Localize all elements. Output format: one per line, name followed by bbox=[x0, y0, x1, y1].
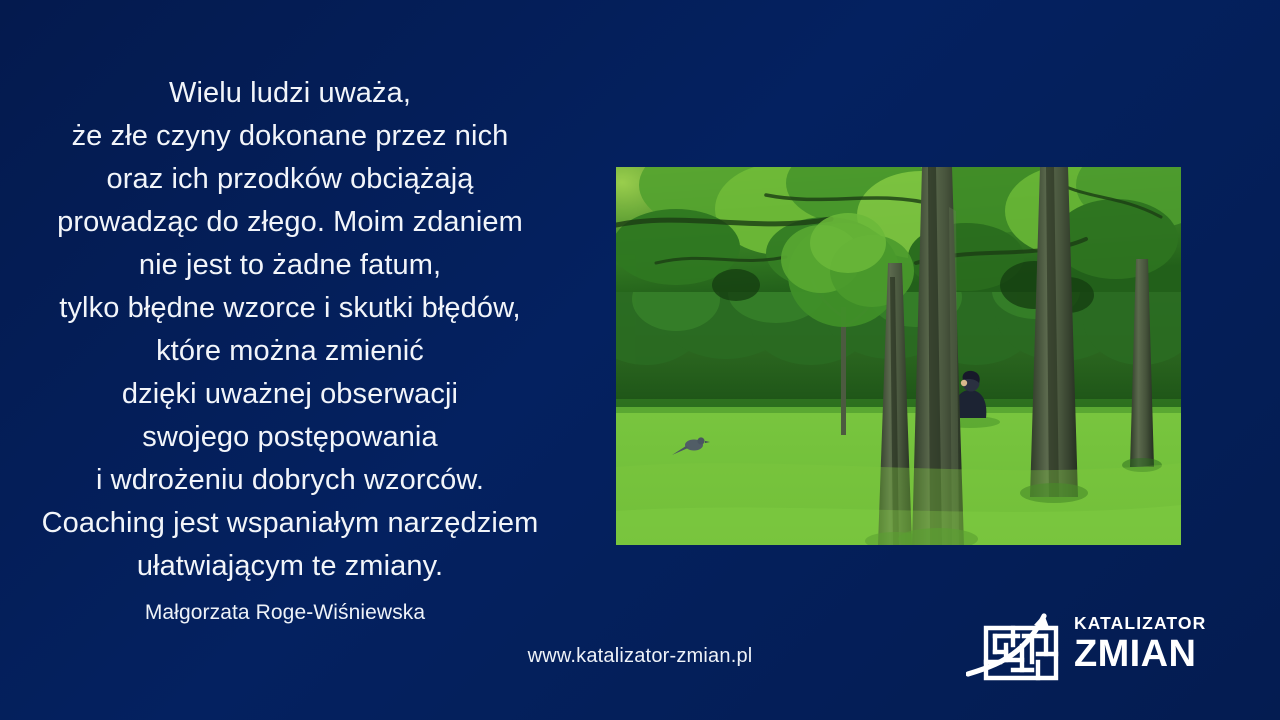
quote-line: Coaching jest wspaniałym narzędziem bbox=[0, 502, 580, 545]
quote-line: i wdrożeniu dobrych wzorców. bbox=[0, 459, 580, 502]
park-photo bbox=[616, 167, 1181, 545]
quote-line: Wielu ludzi uważa, bbox=[0, 72, 580, 115]
quote-author: Małgorzata Roge-Wiśniewska bbox=[0, 600, 570, 626]
quote-line: ułatwiającym te zmiany. bbox=[0, 545, 580, 588]
park-photo-illustration bbox=[616, 167, 1181, 545]
quote-line: oraz ich przodków obciążają bbox=[0, 158, 580, 201]
brand-line-katalizator: KATALIZATOR bbox=[1074, 614, 1190, 633]
quote-line: które można zmienić bbox=[0, 330, 580, 373]
slide-canvas: Wielu ludzi uważa, że złe czyny dokonane… bbox=[0, 0, 1280, 720]
brand-logo[interactable]: KATALIZATOR ZMIAN bbox=[966, 608, 1188, 692]
quote-line: nie jest to żadne fatum, bbox=[0, 244, 580, 287]
brand-line-zmian: ZMIAN bbox=[1074, 634, 1190, 675]
quote-line: swojego postępowania bbox=[0, 416, 580, 459]
maze-arrow-icon bbox=[966, 612, 1066, 686]
website-url[interactable]: www.katalizator-zmian.pl bbox=[400, 643, 880, 669]
quote-line: dzięki uważnej obserwacji bbox=[0, 373, 580, 416]
quote-line: prowadząc do złego. Moim zdaniem bbox=[0, 201, 580, 244]
quote-text: Wielu ludzi uważa, że złe czyny dokonane… bbox=[0, 72, 580, 588]
quote-line: tylko błędne wzorce i skutki błędów, bbox=[0, 287, 580, 330]
maze-arrow-glyph bbox=[966, 612, 1066, 686]
quote-line: że złe czyny dokonane przez nich bbox=[0, 115, 580, 158]
brand-wordmark: KATALIZATOR ZMIAN bbox=[1074, 614, 1190, 675]
